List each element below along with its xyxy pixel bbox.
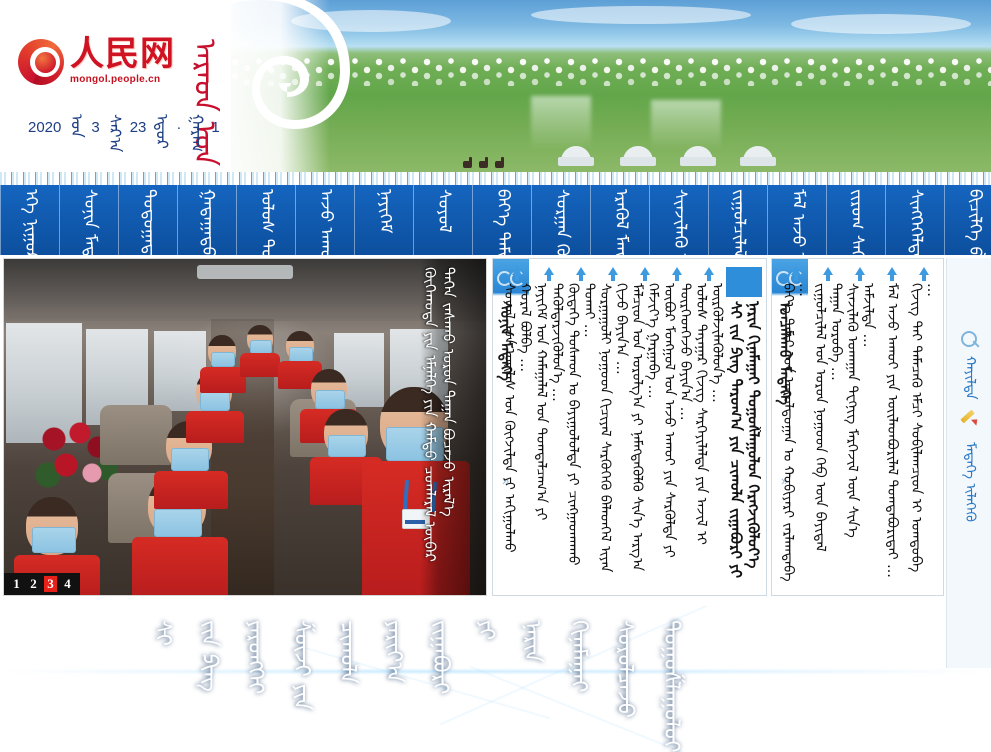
news-item[interactable]: ᠨᠡᠶᠢᠭᠡᠮ ᠤᠨ ᠬᠠᠮᠠᠭᠠᠯᠠᠯ ᠤᠨ ᠲᠣᠭᠲᠠᠯᠴᠠᠭ᠎ᠠ ᠶᠢ ᠲ… (534, 267, 564, 591)
news-lead-item[interactable]: ᠰᠢ ᠵᠢᠨ ᠫᠢᠩ ᠳᠠᠷᠤᠭ᠎ᠠ ᠶᠢᠨ ᠴᠢᠬᠤᠯᠠ ᠵᠢᠭᠠᠪᠤᠷᠢ ᠶ… (726, 267, 762, 591)
search-icon (959, 330, 981, 352)
nav-item-3[interactable]: ᠭᠠᠳᠠᠭᠠᠳᠤ (178, 185, 237, 255)
nav-item-14[interactable]: ᠵᠢᠷᠤᠭ ᠰᠡᠭᠦᠳᠡᠷ (827, 185, 886, 255)
grassland-photo (231, 0, 991, 172)
banner-word-2: ᠶᠡᠷᠦᠩᠬᠡᠢ (242, 620, 266, 694)
bus-ceiling (4, 259, 486, 321)
nav-item-label: ᠪᠢᠴᠢᠯᠭᠡ ᠪᠯᠣᠭ (965, 189, 983, 251)
news-item[interactable]: ᠵᠢᠭᠤᠯᠴᠢᠯᠠᠯ ᠤᠨ ᠣᠷᠣᠨ ᠨᠤᠭᠤᠳ ᠬᠡᠪ ᠦᠨ ᠪᠠᠶᠢᠳᠠᠯ … (813, 267, 843, 591)
bullet-icon (672, 267, 682, 275)
news-item-title: ᠨᠡᠶᠢᠭᠡᠮ ᠤᠨ ᠬᠠᠮᠠᠭᠠᠯᠠᠯ ᠤᠨ ᠲᠣᠭᠲᠠᠯᠴᠠᠭ᠎ᠠ ᠶᠢ ᠲ… (533, 283, 565, 583)
nav-primary-list: ᠡᠬᠡ ᠨᠢᠭᠤᠷ ᠰᠣᠨᠢᠨ ᠮᠡᠳᠡᠭᠡ ᠳᠣᠲᠣᠭᠠᠳᠤ ᠭᠠᠳᠠᠭᠠᠳᠤ… (0, 185, 991, 255)
feature-photo-slider[interactable]: ᠬᠥᠬᠡᠬᠣᠲᠠ ᠶᠢᠨ ᠡᠮᠨᠡᠯᠭᠡ ᠶᠢᠨ ᠬᠠᠮᠲᠤ ᠴᠤᠭᠯᠠᠷᠠᠯ … (3, 258, 487, 596)
date-weekday: 1 (211, 119, 219, 136)
logo-domain: mongol.people.cn (70, 74, 175, 85)
logo-area: 人民网 mongol.people.cn ᠠᠷᠠᠳ ᠤᠨ ᠰᠦᠯᠵᠢᠶ᠎ᠡ 20… (0, 0, 330, 172)
news-item[interactable]: ᠰᠢᠨᠵᠢᠯᠡᠬᠦ ᠤᠬᠠᠭᠠᠨ ᠲᠧᠭᠨᠢᠭ ᠮᠡᠷᠭᠡᠵᠢᠯ ᠦᠨ ᠰᠢᠨ᠎… (845, 267, 875, 591)
logo-mongolian-title: ᠠᠷᠠᠳ ᠤᠨ ᠰᠦᠯᠵᠢᠶ᠎ᠡ (189, 39, 219, 85)
feature-pagination: 1 2 3 4 (4, 573, 80, 595)
promo-banner[interactable]: ᠰᠢ ᠵᠢᠨ ᠫᠢᠩ ᠶᠡᠷᠦᠩᠬᠡᠢ ᠱᠦᠵᠢ ᠶᠢᠨ ᠴᠢᠬᠤᠯᠠ ᠶᠠᠷᠢ… (0, 606, 991, 752)
bullet-icon (823, 267, 833, 275)
news-item-title: ᠬᠥᠳᠡᠭᠡ ᠲᠣᠰᠭᠣᠨ ᠤ ᠪᠠᠶᠢᠭᠤᠯᠤᠯᠲᠠ ᠶᠢ ᠴᠢᠩᠭᠠᠳᠬᠠᠬ… (565, 283, 597, 583)
date-weekday-label: ᠭᠠᠷᠠᠭ (188, 114, 204, 140)
banner-word-6: ᠵᠢᠭᠠᠪᠤᠷᠢ (427, 620, 451, 694)
bullet-icon (855, 267, 865, 275)
smoke-plume (531, 96, 591, 150)
cloud-shape (531, 6, 751, 24)
yurt (743, 146, 773, 166)
nav-item-8[interactable]: ᠪᠡᠶ᠎ᠡ ᠲᠠᠮᠢᠷ (473, 185, 532, 255)
bullet-icon (576, 267, 586, 275)
nav-item-label: ᠨᠡᠶᠢᠭᠡᠮ (375, 189, 393, 234)
site-header: 人民网 mongol.people.cn ᠠᠷᠠᠳ ᠤᠨ ᠰᠦᠯᠵᠢᠶ᠎ᠡ 20… (0, 0, 991, 172)
banner-word-8: ᠨᠠᠷᠢᠨ (520, 620, 544, 662)
news-item-title: ᠰᠤᠷᠭᠠᠭᠤᠯᠢ ᠨᠤᠭᠤᠳ ᠬᠢᠴᠢᠶᠡᠯ ᠰᠡᠷᠭᠦᠭᠡᠬᠦ ᠪᠡᠯᠡᠳᠬ… (597, 283, 629, 583)
news-item[interactable]: ᠰᠣᠶᠣᠯ ᠤᠨ ᠦᠢᠯᠡᠰ ᠤᠨ ᠬᠥᠭᠵᠢᠯᠲᠡ ᠶᠢ ᠠᠬᠢᠭᠤᠯᠬᠤ ᠬ… (502, 267, 532, 591)
bullet-icon (544, 267, 554, 275)
pager-page-3-active[interactable]: 3 (44, 576, 57, 592)
page-root: 人民网 mongol.people.cn ᠠᠷᠠᠳ ᠤᠨ ᠰᠦᠯᠵᠢᠶ᠎ᠡ 20… (0, 0, 991, 752)
greek-key-border (0, 172, 991, 186)
date-month: 3 (91, 119, 99, 136)
nav-item-2[interactable]: ᠳᠣᠲᠣᠭᠠᠳᠤ (119, 185, 178, 255)
bullet-icon (512, 267, 522, 275)
date-year: 2020 (28, 119, 61, 136)
news-item[interactable]: ᠬᠥᠳᠡᠭᠡ ᠲᠣᠰᠭᠣᠨ ᠤ ᠪᠠᠶᠢᠭᠤᠯᠤᠯᠲᠠ ᠶᠢ ᠴᠢᠩᠭᠠᠳᠬᠠᠬ… (566, 267, 596, 591)
date-day: 23 (130, 119, 147, 136)
news-panel-primary: ᠰᠣᠨᠢᠨ ᠮᠡᠳᠡᠭᠡ » ᠰᠢ ᠵᠢᠨ ᠫᠢᠩ ᠳᠠᠷᠤᠭ᠎ᠠ ᠶᠢᠨ ᠴᠢ… (492, 258, 767, 596)
nav-item-12[interactable]: ᠵᠢᠭᠤᠯᠴᠢᠯᠠᠯ (709, 185, 768, 255)
nav-item-16[interactable]: ᠪᠢᠴᠢᠯᠭᠡ ᠪᠯᠣᠭ (945, 185, 991, 255)
bullet-icon (887, 267, 897, 275)
news-item-title: ᠥᠪᠥᠷ ᠮᠣᠩᠭᠣᠯ ᠤᠨ ᠠᠵᠤ ᠠᠬᠤᠢ ᠶᠢᠨ ᠰᠡᠷᠭᠦᠯᠲᠡ ᠶᠢ … (661, 283, 693, 583)
search-button[interactable]: ᠬᠠᠶᠢᠯᠲᠠ (959, 330, 981, 400)
news-item-title: ᠰᠢᠨᠵᠢᠯᠡᠬᠦ ᠤᠬᠠᠭᠠᠨ ᠲᠧᠭᠨᠢᠭ ᠮᠡᠷᠭᠡᠵᠢᠯ ᠦᠨ ᠰᠢᠨ᠎… (844, 283, 876, 583)
nav-item-15[interactable]: ᠰᠢᠩᠭᠡᠭᠡᠯᠲᠡ (886, 185, 945, 255)
smoke-plume (651, 100, 721, 150)
compose-label: ᠮᠡᠳᠡᠭᠡ ᠢᠯᠡᠭᠡᠬᠦ (962, 442, 977, 522)
nav-item-label: ᠡᠬᠡ ᠨᠢᠭᠤᠷ (21, 189, 39, 251)
site-logo[interactable]: 人民网 mongol.people.cn ᠠᠷᠠᠳ ᠤᠨ ᠰᠦᠯᠵᠢᠶ᠎ᠡ (18, 38, 219, 85)
nav-item-label: ᠮᠠᠯ ᠠᠵᠤ ᠠᠬᠤᠢ (788, 189, 806, 251)
nav-item-label: ᠵᠢᠭᠤᠯᠴᠢᠯᠠᠯ (729, 189, 747, 251)
nav-item-4[interactable]: ᠤᠯᠤᠰ ᠲᠥᠷᠥ (237, 185, 296, 255)
horse (495, 161, 504, 168)
banner-word-0: ᠰᠢ (150, 620, 174, 646)
bus-photo (4, 259, 486, 595)
news-item[interactable]: ᠬᠢᠵᠢᠭ ᠲᠠᠢ ᠲᠡᠮᠡᠴᠡᠬᠦ ᠡᠮᠴᠢ ᠰᠤᠪᠢᠯᠠᠭᠴᠢᠳ ᠢ ᠤᠭᠲ… (909, 267, 939, 591)
bullet-icon (640, 267, 650, 275)
horse (463, 161, 472, 168)
nav-item-label: ᠭᠠᠳᠠᠭᠠᠳᠤ (198, 189, 216, 251)
nav-item-label: ᠰᠢᠨᠵᠢᠯᠡᠬᠦ ᠤᠬᠠᠭᠠᠨ (670, 189, 688, 251)
news-list: ᠬᠢᠵᠢᠭ ᠲᠠᠢ ᠲᠡᠮᠡᠴᠡᠬᠦ ᠡᠮᠴᠢ ᠰᠤᠪᠢᠯᠠᠭᠴᠢᠳ ᠢ ᠤᠭᠲ… (808, 263, 939, 591)
news-item[interactable]: ᠮᠠᠯ ᠠᠵᠤ ᠠᠬᠤᠢ ᠶᠢᠨ ᠦᠢᠯᠡᠳᠪᠦᠷᠢᠯᠡᠯ ᠲᠣᠭᠲᠠᠪᠤᠷᠢᠲ… (877, 267, 907, 591)
people-daily-logo-icon (18, 39, 64, 85)
nav-item-9[interactable]: ᠰᠤᠷᠭᠠᠨ ᠬᠦᠮᠦᠵᠢᠯ (532, 185, 591, 255)
date-line: 2020 ᠤᠨ 3 ᠰᠠᠷ᠎ᠠ 23 ᠡᠳᠦᠷ · ᠭᠠᠷᠠᠭ 1 (28, 114, 220, 140)
news-item[interactable]: ᠰᠤᠷᠭᠠᠭᠤᠯᠢ ᠨᠤᠭᠤᠳ ᠬᠢᠴᠢᠶᠡᠯ ᠰᠡᠷᠭᠦᠭᠡᠬᠦ ᠪᠡᠯᠡᠳᠬ… (598, 267, 628, 591)
pager-page-2[interactable]: 2 (27, 576, 40, 592)
cloud-shape (791, 14, 971, 34)
news-item[interactable]: ᠮᠠᠯᠴᠢᠳ ᠤᠨ ᠣᠷᠣᠯᠭ᠎ᠠ ᠶᠢ ᠨᠡᠮᠡᠭᠳᠡᠭᠦᠯᠬᠦ ᠰᠢᠨ᠎ᠡ … (630, 267, 660, 591)
date-month-label: ᠰᠠᠷ᠎ᠠ (107, 114, 123, 140)
nav-item-13[interactable]: ᠮᠠᠯ ᠠᠵᠤ ᠠᠬᠤᠢ (768, 185, 827, 255)
main-navigation: ᠡᠬᠡ ᠨᠢᠭᠤᠷ ᠰᠣᠨᠢᠨ ᠮᠡᠳᠡᠭᠡ ᠳᠣᠲᠣᠭᠠᠳᠤ ᠭᠠᠳᠠᠭᠠᠳᠤ… (0, 185, 991, 255)
pencil-icon (959, 416, 981, 438)
nav-item-1[interactable]: ᠰᠣᠨᠢᠨ ᠮᠡᠳᠡᠭᠡ (60, 185, 119, 255)
banner-word-11: ᠲᠤᠭᠤᠱᠯᠠᠭᠤᠯᠤᠶ᠎ᠠ (658, 620, 682, 738)
nav-item-10[interactable]: ᠡᠷᠡᠭᠦᠯ ᠮᠡᠨᠳᠦ (591, 185, 650, 255)
pager-page-1[interactable]: 1 (10, 576, 23, 592)
nav-item-label: ᠳᠣᠲᠣᠭᠠᠳᠤ (139, 189, 157, 251)
nav-item-6[interactable]: ᠨᠡᠶᠢᠭᠡᠮ (355, 185, 414, 255)
search-label: ᠬᠠᠶᠢᠯᠲᠠ (962, 356, 977, 400)
bullet-icon (791, 267, 801, 275)
nav-item-label: ᠪᠡᠶ᠎ᠡ ᠲᠠᠮᠢᠷ (493, 189, 511, 251)
date-day-label: ᠡᠳᠦᠷ (153, 114, 169, 140)
news-panel-secondary: ᠣᠨᠴᠠᠯᠠᠬᠤ ᠮᠡᠳᠡᠭᠡ » ᠬᠢᠵᠢᠭ ᠲᠠᠢ ᠲᠡᠮᠡᠴᠡᠬᠦ ᠡᠮᠴ… (771, 258, 944, 596)
banner-word-9: ᠬᠢᠨᠠᠮᠠᠭᠠᠢ (566, 620, 590, 693)
news-item[interactable]: ᠪᠡᠶ᠎ᠡ ᠲᠠᠮᠢᠷ ᠤᠨ ᠤᠷᠤᠯᠳᠤᠭᠠᠨ ᠤ ᠬᠤᠪᠢᠶᠠᠷᠢ ᠵᠠᠷᠯ… (781, 267, 811, 591)
nav-item-0[interactable]: ᠡᠬᠡ ᠨᠢᠭᠤᠷ (0, 185, 60, 255)
news-item-title: ᠮᠠᠯ ᠠᠵᠤ ᠠᠬᠤᠢ ᠶᠢᠨ ᠦᠢᠯᠡᠳᠪᠦᠷᠢᠯᠡᠯ ᠲᠣᠭᠲᠠᠪᠤᠷᠢᠲ… (884, 283, 900, 578)
nav-item-label: ᠠᠵᠤ ᠠᠬᠤᠢ (316, 189, 334, 251)
logo-chinese-title: 人民网 (70, 38, 175, 72)
date-separator: · (176, 119, 181, 136)
feature-caption: ᠬᠥᠬᠡᠬᠣᠲᠠ ᠶᠢᠨ ᠡᠮᠨᠡᠯᠭᠡ ᠶᠢᠨ ᠬᠠᠮᠲᠤ ᠴᠤᠭᠯᠠᠷᠠᠯ … (420, 259, 486, 596)
nav-item-label: ᠡᠷᠡᠭᠦᠯ ᠮᠡᠨᠳᠦ (611, 189, 629, 251)
bullet-icon (608, 267, 618, 275)
news-item-title: ᠵᠢᠭᠤᠯᠴᠢᠯᠠᠯ ᠤᠨ ᠣᠷᠣᠨ ᠨᠤᠭᠤᠳ ᠬᠡᠪ ᠦᠨ ᠪᠠᠶᠢᠳᠠᠯ … (812, 283, 844, 583)
news-item-title: ᠰᠢ ᠵᠢᠨ ᠫᠢᠩ ᠳᠠᠷᠤᠭ᠎ᠠ ᠶᠢᠨ ᠴᠢᠬᠤᠯᠠ ᠵᠢᠭᠠᠪᠤᠷᠢ ᠶ… (727, 301, 762, 591)
main-content: ᠬᠥᠬᠡᠬᠣᠲᠠ ᠶᠢᠨ ᠡᠮᠨᠡᠯᠭᠡ ᠶᠢᠨ ᠬᠠᠮᠲᠤ ᠴᠤᠭᠯᠠᠷᠠᠯ … (0, 258, 991, 603)
yurt (623, 146, 653, 166)
news-item[interactable]: ᠤᠯᠤᠰ ᠳᠠᠶᠠᠭᠠᠷ ᠬᠢᠵᠢᠭ ᠰᠡᠷᠭᠡᠶᠢᠯᠡᠯᠲᠡ ᠶᠢᠨ ᠠᠵᠢᠯ… (694, 267, 724, 591)
bullet-icon (704, 267, 714, 275)
nav-item-7[interactable]: ᠰᠣᠶᠣᠯ (414, 185, 473, 255)
news-item-title: ᠤᠯᠤᠰ ᠳᠠᠶᠠᠭᠠᠷ ᠬᠢᠵᠢᠭ ᠰᠡᠷᠭᠡᠶᠢᠯᠡᠯᠲᠡ ᠶᠢᠨ ᠠᠵᠢᠯ… (693, 283, 725, 583)
news-item-title: ᠮᠠᠯᠴᠢᠳ ᠤᠨ ᠣᠷᠣᠯᠭ᠎ᠠ ᠶᠢ ᠨᠡᠮᠡᠭᠳᠡᠭᠦᠯᠬᠦ ᠰᠢᠨ᠎ᠡ … (629, 283, 661, 583)
news-item-title: ᠪᠡᠶ᠎ᠡ ᠲᠠᠮᠢᠷ ᠤᠨ ᠤᠷᠤᠯᠳᠤᠭᠠᠨ ᠤ ᠬᠤᠪᠢᠶᠠᠷᠢ ᠵᠠᠷᠯ… (780, 283, 812, 583)
compose-button[interactable]: ᠮᠡᠳᠡᠭᠡ ᠢᠯᠡᠭᠡᠬᠦ (959, 416, 981, 522)
nav-item-label: ᠵᠢᠷᠤᠭ ᠰᠡᠭᠦᠳᠡᠷ (847, 189, 865, 251)
nav-item-label: ᠤᠯᠤᠰ ᠲᠥᠷᠥ (257, 189, 275, 251)
banner-word-7: ᠶᠢ (473, 620, 497, 640)
sheep-flock (231, 70, 991, 86)
banner-word-4: ᠴᠢᠬᠤᠯᠠ (335, 620, 359, 684)
nav-item-label: ᠰᠢᠩᠭᠡᠭᠡᠯᠲᠡ (906, 189, 924, 251)
news-item-title: ᠬᠢᠵᠢᠭ ᠲᠠᠢ ᠲᠡᠮᠡᠴᠡᠬᠦ ᠡᠮᠴᠢ ᠰᠤᠪᠢᠯᠠᠭᠴᠢᠳ ᠢ ᠤᠭᠲ… (908, 283, 940, 583)
nav-item-label: ᠰᠣᠶᠣᠯ (434, 189, 452, 233)
feature-caption-text: ᠬᠥᠬᠡᠬᠣᠲᠠ ᠶᠢᠨ ᠡᠮᠨᠡᠯᠭᠡ ᠶᠢᠨ ᠬᠠᠮᠲᠤ ᠴᠤᠭᠯᠠᠷᠠᠯ … (420, 267, 458, 589)
nav-item-11[interactable]: ᠰᠢᠨᠵᠢᠯᠡᠬᠦ ᠤᠬᠠᠭᠠᠨ (650, 185, 709, 255)
bullet-icon (919, 267, 929, 275)
banner-word-10: ᠰᠤᠷᠤᠯᠴᠠᠵᠤ (612, 620, 636, 718)
pager-page-4[interactable]: 4 (61, 576, 74, 592)
news-list: ᠰᠢ ᠵᠢᠨ ᠫᠢᠩ ᠳᠠᠷᠤᠭ᠎ᠠ ᠶᠢᠨ ᠴᠢᠬᠤᠯᠠ ᠵᠢᠭᠠᠪᠤᠷᠢ ᠶ… (529, 263, 762, 591)
banner-headline: ᠰᠢ ᠵᠢᠨ ᠫᠢᠩ ᠶᠡᠷᠦᠩᠬᠡᠢ ᠱᠦᠵᠢ ᠶᠢᠨ ᠴᠢᠬᠤᠯᠠ ᠶᠠᠷᠢ… (150, 620, 891, 740)
nav-item-label: ᠰᠤᠷᠭᠠᠨ ᠬᠦᠮᠦᠵᠢᠯ (552, 189, 570, 251)
nav-item-label: ᠰᠣᠨᠢᠨ ᠮᠡᠳᠡᠭᠡ (80, 189, 98, 251)
banner-word-5: ᠶᠠᠷᠢᠶ᠎ᠠ (381, 620, 405, 683)
horse (479, 161, 488, 168)
banner-word-1: ᠵᠢᠨ ᠫᠢᠩ (196, 620, 220, 692)
date-year-label: ᠤᠨ (68, 114, 84, 140)
banner-word-3: ᠱᠦᠵᠢ ᠶᠢᠨ (289, 620, 313, 710)
news-item[interactable]: ᠥᠪᠥᠷ ᠮᠣᠩᠭᠣᠯ ᠤᠨ ᠠᠵᠤ ᠠᠬᠤᠢ ᠶᠢᠨ ᠰᠡᠷᠭᠦᠯᠲᠡ ᠶᠢ … (662, 267, 692, 591)
nav-item-5[interactable]: ᠠᠵᠤ ᠠᠬᠤᠢ (296, 185, 355, 255)
passenger (240, 325, 280, 377)
news-item-title: ᠰᠣᠶᠣᠯ ᠤᠨ ᠦᠢᠯᠡᠰ ᠤᠨ ᠬᠥᠭᠵᠢᠯᠲᠡ ᠶᠢ ᠠᠬᠢᠭᠤᠯᠬᠤ ᠬ… (501, 283, 533, 583)
